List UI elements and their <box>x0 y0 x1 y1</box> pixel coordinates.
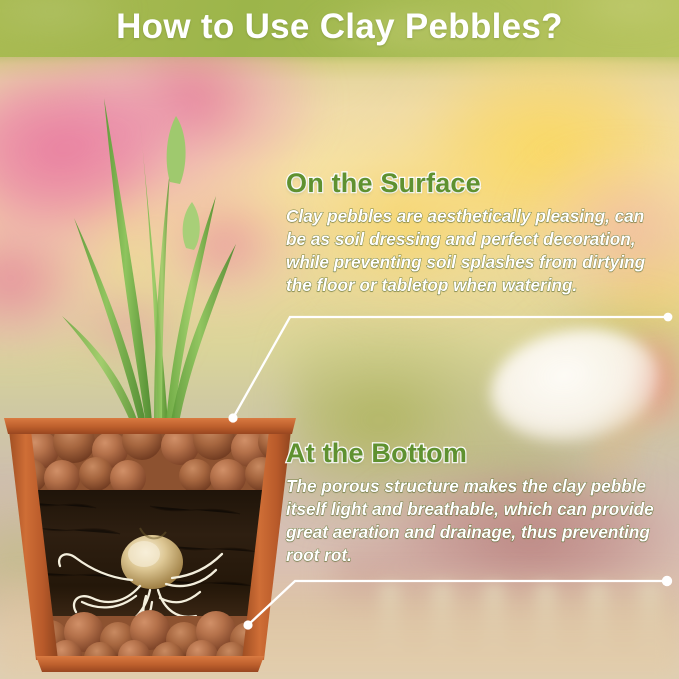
section-heading-on-the-surface: On the Surface <box>286 168 668 199</box>
section-body-on-the-surface: Clay pebbles are aesthetically pleasing,… <box>286 205 668 297</box>
page-title: How to Use Clay Pebbles? <box>0 0 679 57</box>
pot-cross-section <box>4 418 300 674</box>
pot-rim <box>4 418 296 434</box>
section-heading-at-the-bottom: At the Bottom <box>286 438 668 469</box>
plant-pot-illustration <box>0 50 300 679</box>
pot-base <box>36 656 264 672</box>
infographic-root: How to Use Clay Pebbles? <box>0 0 679 679</box>
section-at-the-bottom: At the Bottom The porous structure makes… <box>286 438 668 567</box>
section-body-at-the-bottom: The porous structure makes the clay pebb… <box>286 475 668 567</box>
section-on-the-surface: On the Surface Clay pebbles are aestheti… <box>286 168 668 297</box>
